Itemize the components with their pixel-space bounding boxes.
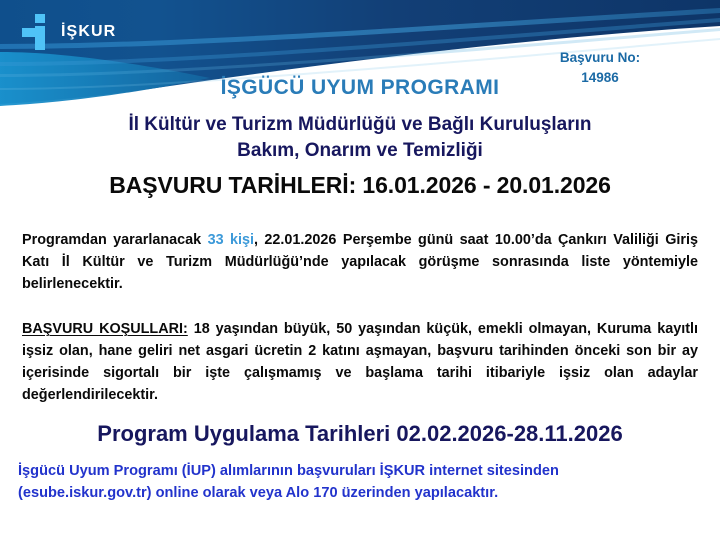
program-subtitle-line-1: İl Kültür ve Turizm Müdürlüğü ve Bağlı K… (0, 112, 720, 138)
application-method-note: İşgücü Uyum Programı (İUP) alımlarının b… (18, 460, 702, 504)
program-implementation-dates: Program Uygulama Tarihleri 02.02.2026-28… (0, 421, 720, 447)
conditions-label: BAŞVURU KOŞULLARI: (22, 321, 188, 337)
iskur-logo: İŞKUR (22, 14, 116, 50)
program-subtitle: İl Kültür ve Turizm Müdürlüğü ve Bağlı K… (0, 112, 720, 164)
selected-person-count: 33 kişi (208, 232, 254, 248)
program-title: İŞGÜCÜ UYUM PROGRAMI (0, 76, 720, 100)
selection-paragraph: Programdan yararlanacak 33 kişi, 22.01.2… (22, 230, 698, 296)
iskur-figure-logo-icon (22, 14, 52, 50)
program-subtitle-line-2: Bakım, Onarım ve Temizliği (0, 138, 720, 164)
conditions-paragraph: BAŞVURU KOŞULLARI: 18 yaşından büyük, 50… (22, 319, 698, 407)
application-number-label: Başvuru No: (510, 48, 690, 68)
selection-text-before: Programdan yararlanacak (22, 232, 208, 248)
application-dates-heading: BAŞVURU TARİHLERİ: 16.01.2026 - 20.01.20… (0, 172, 720, 199)
application-method-line-1: İşgücü Uyum Programı (İUP) alımlarının b… (18, 460, 702, 482)
application-method-line-2: (esube.iskur.gov.tr) online olarak veya … (18, 482, 702, 504)
iskur-logo-text: İŞKUR (61, 24, 116, 40)
